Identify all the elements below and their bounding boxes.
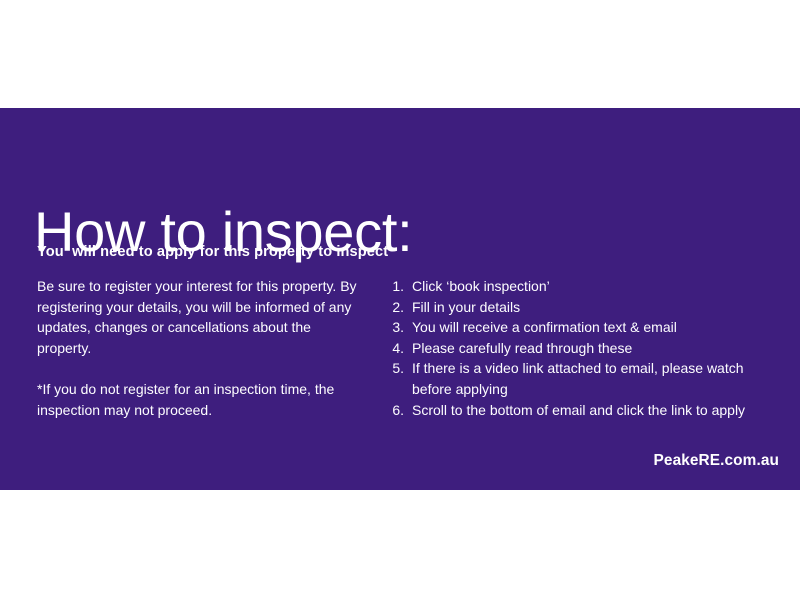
- slide-canvas: How to inspect: You will need to apply f…: [0, 0, 800, 600]
- left-text-column: Be sure to register your interest for th…: [37, 276, 357, 420]
- brand-website-label: PeakeRE.com.au: [654, 452, 779, 470]
- list-item: Click ‘book inspection’: [386, 276, 758, 297]
- subheading: You will need to apply for this property…: [37, 244, 388, 260]
- list-item: Scroll to the bottom of email and click …: [386, 400, 758, 421]
- paragraph-register-interest: Be sure to register your interest for th…: [37, 276, 357, 358]
- paragraph-disclaimer: *If you do not register for an inspectio…: [37, 379, 357, 420]
- list-item: You will receive a confirmation text & e…: [386, 317, 758, 338]
- inspection-steps-list: Click ‘book inspection’ Fill in your det…: [386, 276, 758, 420]
- right-steps-column: Click ‘book inspection’ Fill in your det…: [386, 276, 758, 420]
- list-item: Fill in your details: [386, 297, 758, 318]
- list-item: Please carefully read through these: [386, 338, 758, 359]
- list-item: If there is a video link attached to ema…: [386, 358, 758, 399]
- purple-banner-band: How to inspect: You will need to apply f…: [0, 108, 800, 490]
